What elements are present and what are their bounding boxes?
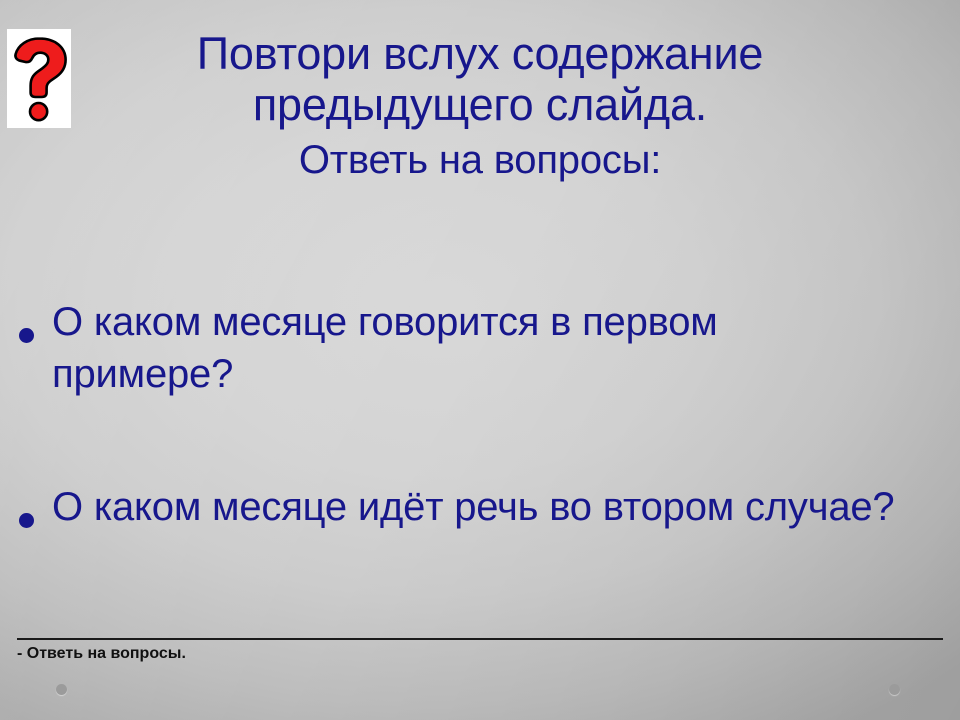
list-item: О каком месяце говорится в первом пример… [0,296,900,400]
bullet-list: О каком месяце говорится в первом пример… [0,296,900,535]
page-title: Повтори вслух содержание предыдущего сла… [112,28,848,190]
list-item-label: О каком месяце идёт речь во втором случа… [52,481,900,533]
question-mark-icon [7,29,71,128]
bullet-dot-icon [0,481,52,535]
list-item: О каком месяце идёт речь во втором случа… [0,481,900,535]
decorative-dot-left [56,684,67,695]
slide-canvas: Повтори вслух содержание предыдущего сла… [0,0,960,720]
footer-divider [17,638,943,640]
title-line-1: Повтори вслух содержание [112,28,848,79]
footer-note: - Ответь на вопросы. [17,644,186,664]
list-item-label: О каком месяце говорится в первом пример… [52,296,900,400]
title-line-3: Ответь на вопросы: [112,130,848,190]
bullet-dot-icon [0,296,52,350]
title-line-2: предыдущего слайда. [112,79,848,130]
decorative-dot-right [889,684,900,695]
